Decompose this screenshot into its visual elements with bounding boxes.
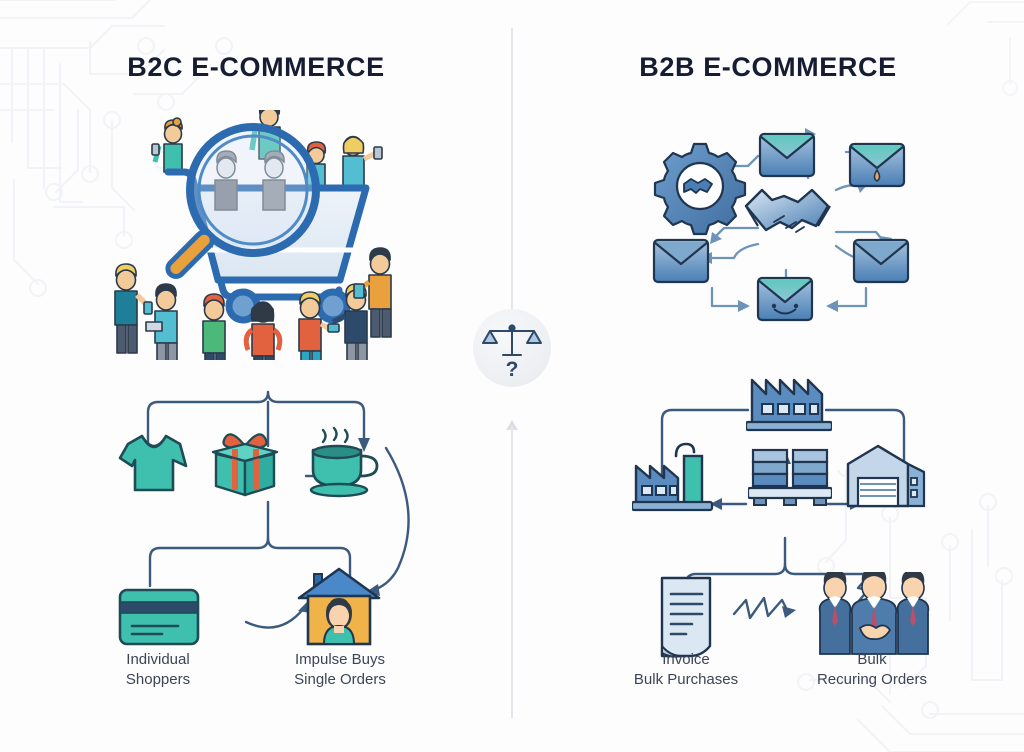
- envelope-node-left: [654, 240, 708, 282]
- divider-line-top: [511, 28, 513, 328]
- factory-smokestack-icon: [632, 440, 718, 517]
- central-handshake-icon: [746, 190, 830, 232]
- caption-bulk-recuring-orders: Bulk Recuring Orders: [782, 650, 962, 690]
- b2b-hero-illustration: [640, 122, 930, 337]
- question-mark-symbol: ?: [506, 358, 519, 379]
- business-team-handshake-icon: [816, 572, 932, 661]
- divider-line-bottom: [511, 426, 513, 718]
- caption-individual-shoppers: Individual Shoppers: [68, 650, 248, 690]
- column-title-b2c: B2C E-COMMERCE: [16, 52, 496, 83]
- envelope-node-bottom: [758, 278, 812, 320]
- envelope-node-top-right: [850, 144, 904, 186]
- factory-icon: [746, 368, 832, 437]
- envelope-node-top: [760, 134, 814, 176]
- coffee-cup-icon: [305, 424, 381, 505]
- balance-scale-icon: ?: [482, 317, 542, 379]
- warehouse-icon: [844, 440, 926, 515]
- envelope-node-right: [854, 240, 908, 282]
- tshirt-icon: [118, 430, 190, 501]
- credit-card-icon: [118, 588, 200, 651]
- house-with-person-icon: [296, 566, 382, 653]
- caption-invoice-bulk-purchases: Invoice Bulk Purchases: [596, 650, 776, 690]
- balance-scale-question-badge: ?: [473, 309, 551, 387]
- caption-impulse-buys: Impulse Buys Single Orders: [250, 650, 430, 690]
- b2c-hero-illustration: [108, 110, 398, 365]
- gear-with-handshake-icon: [655, 144, 745, 234]
- column-title-b2b: B2B E-COMMERCE: [528, 52, 1008, 83]
- infographic-canvas: B2C E-COMMERCE B2B E-COMMERCE ?: [0, 0, 1024, 752]
- pallet-stack-icon: [748, 446, 832, 513]
- gift-box-icon: [208, 428, 282, 503]
